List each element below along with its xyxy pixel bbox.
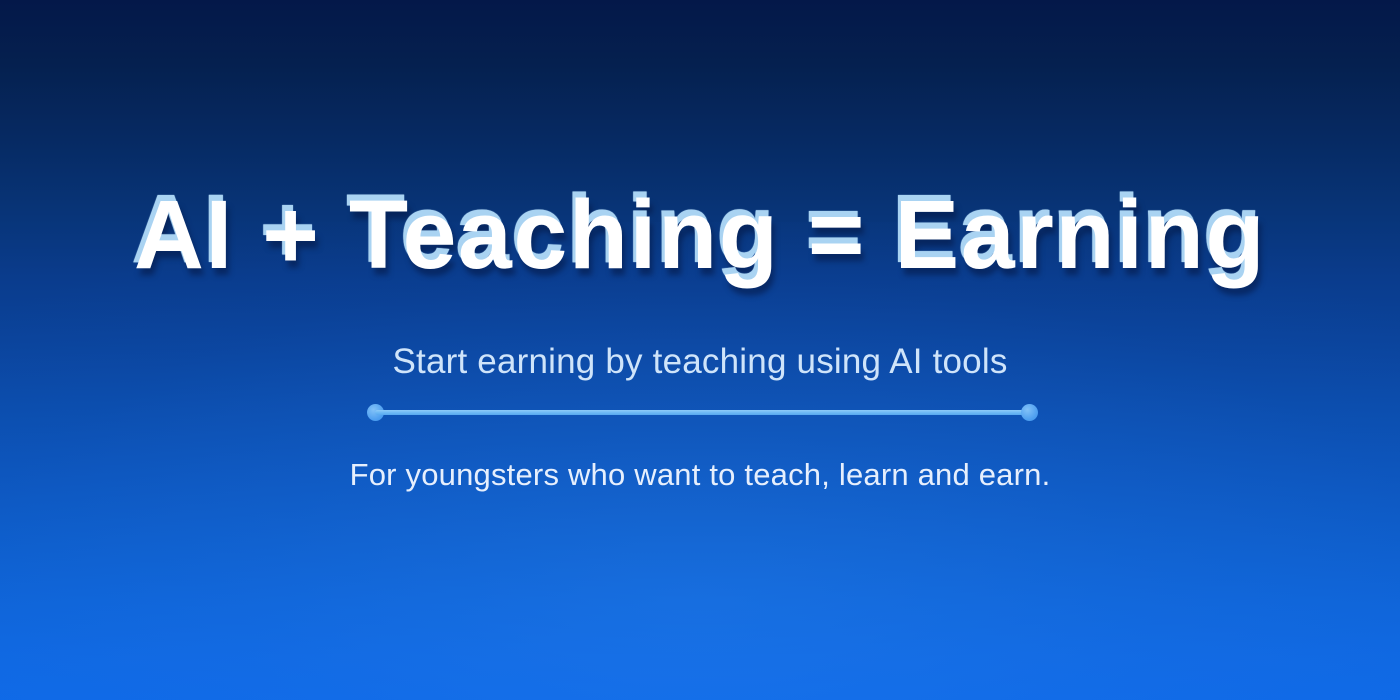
- divider: [367, 404, 1038, 421]
- headline-subtitle: Start earning by teaching using AI tools: [0, 341, 1400, 383]
- hero-content: AI + Teaching = Earning AI + Teaching = …: [0, 0, 1400, 700]
- headline-stack: AI + Teaching = Earning AI + Teaching = …: [134, 186, 1266, 283]
- page-title: AI + Teaching = Earning: [134, 186, 1266, 283]
- tagline: For youngsters who want to teach, learn …: [0, 456, 1400, 493]
- divider-line: [375, 410, 1030, 415]
- hero-banner: AI + Teaching = Earning AI + Teaching = …: [0, 0, 1400, 700]
- headline-container: AI + Teaching = Earning AI + Teaching = …: [0, 186, 1400, 306]
- dot-icon-right: [1021, 404, 1038, 421]
